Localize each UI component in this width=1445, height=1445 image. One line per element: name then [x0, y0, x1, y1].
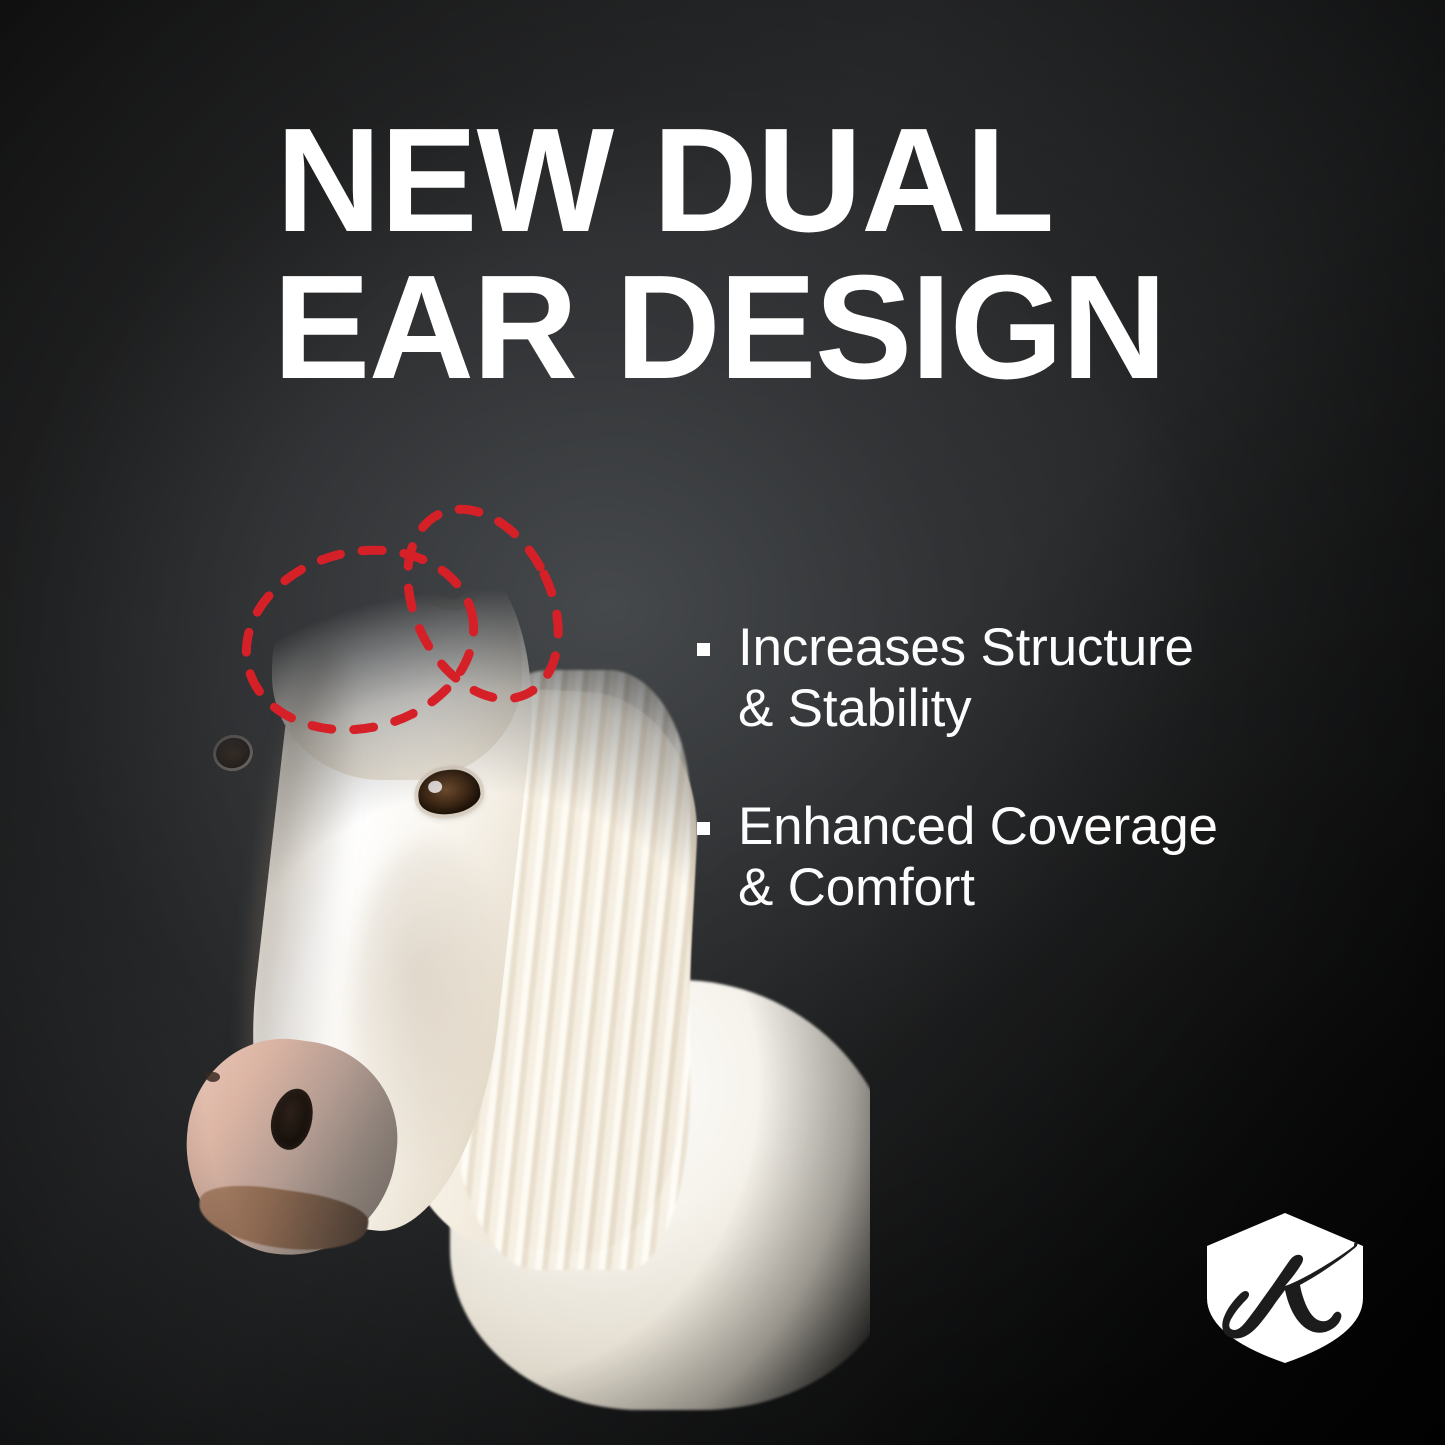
list-item: Increases Structure & Stability [697, 617, 1377, 740]
marketing-graphic-canvas: NEW DUAL EAR DESIGN [0, 0, 1445, 1445]
headline-line-2: EAR DESIGN [273, 255, 1261, 402]
feature-text: Increases Structure & Stability [738, 617, 1194, 740]
brand-logo [1202, 1212, 1368, 1364]
feature-list: Increases Structure & Stability Enhanced… [697, 617, 1377, 975]
list-item: Enhanced Coverage & Comfort [697, 796, 1377, 919]
horse-eye-glint [428, 780, 443, 794]
page-title: NEW DUAL EAR DESIGN [276, 108, 1261, 401]
square-bullet-icon [697, 643, 710, 656]
headline-line-1: NEW DUAL [276, 108, 1261, 255]
feature-text: Enhanced Coverage & Comfort [738, 796, 1218, 919]
horse-ear-left [224, 431, 342, 624]
horse-nostril-far [206, 1072, 220, 1082]
square-bullet-icon [697, 822, 710, 835]
horse-eye-far [213, 734, 253, 771]
